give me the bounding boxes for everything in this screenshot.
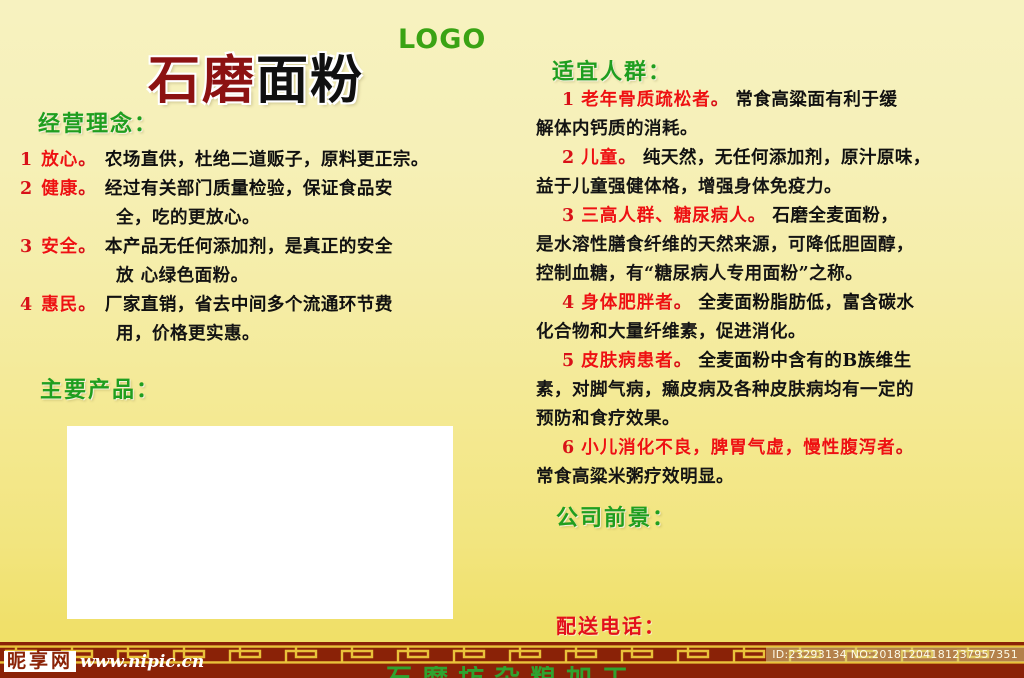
item-separator: 。 (78, 179, 97, 199)
image-id-strip: ID:23293134 NO:20181204181237957351 (766, 647, 1024, 662)
item-separator: 。 (674, 293, 693, 313)
item-continuation: 控制血糖，有“糖尿病人专用面粉”之称。 (536, 260, 1024, 289)
item-continuation: 预防和食疗效果。 (536, 405, 1024, 434)
item-number: 3 (562, 206, 575, 226)
item-number: 2 (20, 179, 33, 199)
item-separator: 。 (78, 237, 97, 257)
item-separator: 。 (896, 438, 915, 458)
item-continuation: 常食高粱米粥疗效明显。 (536, 463, 1024, 492)
heading-main-products: 主要产品： (40, 372, 160, 404)
item-number: 6 (562, 438, 575, 458)
item-continuation: 解体内钙质的消耗。 (536, 115, 1024, 144)
list-item: 2 儿童。 纯天然，无任何添加剂，原汁原味， (536, 144, 1024, 173)
list-item: 4 惠民。 厂家直销，省去中间多个流通环节费 (20, 291, 500, 320)
item-separator: 。 (674, 351, 693, 371)
item-continuation: 素，对脚气病，癞皮病及各种皮肤病均有一定的 (536, 376, 1024, 405)
philosophy-list: 1 放心。 农场直供，杜绝二道贩子，原料更正宗。 2 健康。 经过有关部门质量检… (20, 146, 500, 349)
item-body: 全麦面粉脂肪低，富含碳水 (698, 293, 914, 313)
list-item: 5 皮肤病患者。 全麦面粉中含有的B族维生 (536, 347, 1024, 376)
item-separator: 。 (748, 206, 767, 226)
title-part-stone-mill: 石磨 (148, 50, 256, 111)
item-separator: 。 (618, 148, 637, 168)
item-separator: 。 (711, 90, 730, 110)
item-number: 4 (562, 293, 575, 313)
item-body: 全麦面粉中含有的B族维生 (698, 351, 911, 371)
list-item: 3 三高人群、糖尿病人。 石磨全麦面粉， (536, 202, 1024, 231)
product-image-placeholder (67, 426, 453, 619)
item-continuation: 化合物和大量纤维素，促进消化。 (536, 318, 1024, 347)
page-title: 石磨面粉 (148, 38, 364, 113)
item-continuation: 全，吃的更放心。 (20, 204, 500, 233)
list-item: 1 老年骨质疏松者。 常食高粱面有利于缓 (536, 86, 1024, 115)
watermark: 昵享网 www.nipic.cn (4, 651, 204, 672)
item-separator: 。 (78, 295, 97, 315)
list-item: 1 放心。 农场直供，杜绝二道贩子，原料更正宗。 (20, 146, 500, 175)
item-continuation: 放 心绿色面粉。 (20, 262, 500, 291)
item-keyword: 儿童 (581, 148, 618, 168)
item-keyword: 小儿消化不良，脾胃气虚，慢性腹泻者 (581, 438, 896, 458)
heading-company-prospect: 公司前景： (556, 500, 676, 532)
item-number: 2 (562, 148, 575, 168)
item-keyword: 身体肥胖者 (581, 293, 674, 313)
item-keyword: 惠民 (41, 295, 78, 315)
item-number: 5 (562, 351, 575, 371)
item-keyword: 老年骨质疏松者 (581, 90, 711, 110)
item-number: 1 (562, 90, 575, 110)
title-part-flour: 面粉 (256, 50, 364, 111)
item-keyword: 放心 (41, 150, 78, 170)
list-item: 6 小儿消化不良，脾胃气虚，慢性腹泻者。 (536, 434, 1024, 463)
heading-delivery-phone: 配送电话： (556, 610, 666, 639)
item-body: 经过有关部门质量检验，保证食品安 (105, 179, 393, 199)
logo-text: LOGO (398, 24, 486, 55)
item-keyword: 皮肤病患者 (581, 351, 674, 371)
watermark-url: www.nipic.cn (80, 652, 204, 672)
heading-philosophy: 经营理念： (38, 106, 158, 138)
item-keyword: 健康 (41, 179, 78, 199)
item-body: 石磨全麦面粉， (772, 206, 898, 226)
item-continuation: 益于儿童强健体格，增强身体免疫力。 (536, 173, 1024, 202)
item-keyword: 三高人群、糖尿病人 (581, 206, 748, 226)
list-item: 2 健康。 经过有关部门质量检验，保证食品安 (20, 175, 500, 204)
item-body: 本产品无任何添加剂，是真正的安全 (105, 237, 393, 257)
item-keyword: 安全 (41, 237, 78, 257)
item-body: 厂家直销，省去中间多个流通环节费 (105, 295, 393, 315)
poster-canvas: LOGO 石磨面粉 经营理念： 1 放心。 农场直供，杜绝二道贩子，原料更正宗。… (0, 0, 1024, 678)
item-number: 1 (20, 150, 33, 170)
list-item: 3 安全。 本产品无任何添加剂，是真正的安全 (20, 233, 500, 262)
item-number: 4 (20, 295, 33, 315)
watermark-logo: 昵享网 (4, 651, 76, 672)
item-body: 常食高粱面有利于缓 (735, 90, 897, 110)
item-body: 纯天然，无任何添加剂，原汁原味， (643, 148, 931, 168)
item-continuation: 用，价格更实惠。 (20, 320, 500, 349)
audience-list: 1 老年骨质疏松者。 常食高粱面有利于缓 解体内钙质的消耗。 2 儿童。 纯天然… (536, 86, 1024, 492)
item-body: 农场直供，杜绝二道贩子，原料更正宗。 (105, 150, 429, 170)
item-separator: 。 (78, 150, 97, 170)
heading-suitable-audience: 适宜人群： (552, 54, 672, 86)
item-number: 3 (20, 237, 33, 257)
list-item: 4 身体肥胖者。 全麦面粉脂肪低，富含碳水 (536, 289, 1024, 318)
item-continuation: 是水溶性膳食纤维的天然来源，可降低胆固醇， (536, 231, 1024, 260)
